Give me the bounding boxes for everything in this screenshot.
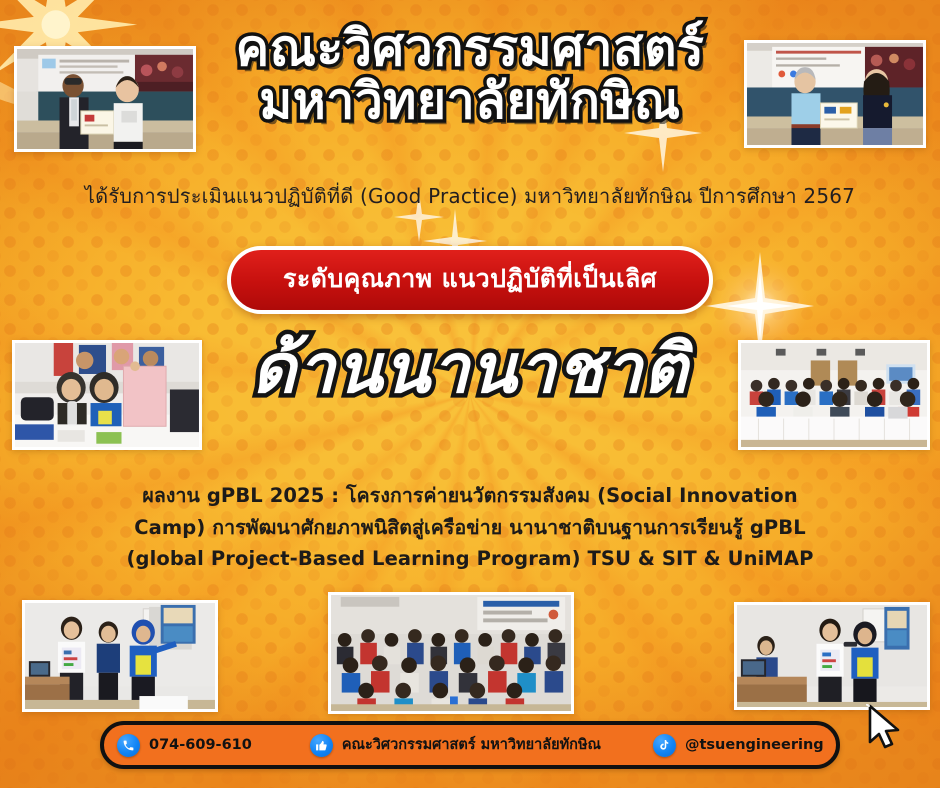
contact-facebook-label: คณะวิศวกรรมศาสตร์ มหาวิทยาลัยทักษิณ	[342, 738, 601, 753]
tiktok-icon	[653, 734, 676, 757]
photo-award-ceremony-left	[14, 46, 196, 152]
photo-presentation-bottom-left	[22, 600, 218, 712]
contact-bar: 074-609-610 คณะวิศวกรรมศาสตร์ มหาวิทยาลั…	[100, 721, 840, 769]
body-line-1: ผลงาน gPBL 2025 : โครงการค่ายนวัตกรรมสัง…	[52, 480, 888, 512]
status-badge: ระดับคุณภาพ แนวปฏิบัติที่เป็นเลิศ	[227, 246, 713, 314]
body-line-2: Camp) การพัฒนาศักยภาพนิสิตสู่เครือข่าย น…	[52, 512, 888, 544]
body-line-3: (global Project-Based Learning Program) …	[52, 543, 888, 575]
contact-facebook[interactable]: คณะวิศวกรรมศาสตร์ มหาวิทยาลัยทักษิณ	[310, 734, 601, 757]
contact-phone-label: 074-609-610	[149, 738, 252, 753]
facebook-thumbs-up-icon	[310, 734, 333, 757]
phone-icon	[117, 734, 140, 757]
contact-tiktok[interactable]: @tsuengineering	[653, 734, 824, 757]
contact-phone[interactable]: 074-609-610	[117, 734, 252, 757]
contact-tiktok-label: @tsuengineering	[685, 738, 824, 753]
photo-presentation-bottom-right	[734, 602, 930, 710]
photo-group-bottom-center	[328, 592, 574, 714]
photo-workshop-left	[12, 340, 202, 450]
body-paragraph: ผลงาน gPBL 2025 : โครงการค่ายนวัตกรรมสัง…	[52, 480, 888, 575]
photo-award-ceremony-right	[744, 40, 926, 148]
subtitle-text: ได้รับการประเมินแนวปฏิบัติที่ดี (Good Pr…	[0, 180, 940, 212]
poster-root: คณะวิศวกรรมศาสตร์ มหาวิทยาลัยทักษิณ ได้ร…	[0, 0, 940, 788]
photo-seminar-right	[738, 340, 930, 450]
award-badge-container: ระดับคุณภาพ แนวปฏิบัติที่เป็นเลิศ	[0, 246, 940, 314]
